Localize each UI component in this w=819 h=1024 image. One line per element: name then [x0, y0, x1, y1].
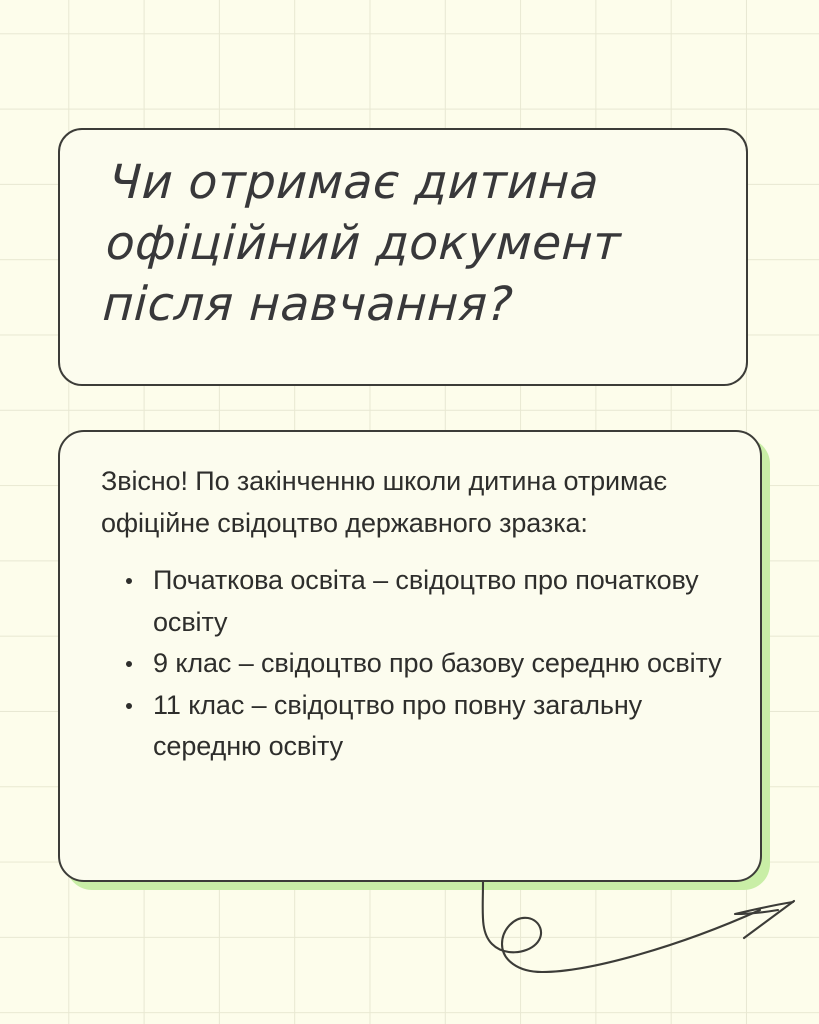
question-title-card: Чи отримає дитина офіційний документ піс…	[58, 128, 748, 386]
content-body: Звісно! По закінченню школи дитина отрим…	[101, 461, 738, 768]
bullet-dot-icon	[126, 703, 132, 709]
answer-content-card: Звісно! По закінченню школи дитина отрим…	[58, 430, 762, 882]
list-item-label: 9 клас – свідоцтво про базову середню ос…	[153, 648, 721, 678]
list-item: Початкова освіта – свідоцтво про початко…	[101, 560, 738, 643]
certificate-list: Початкова освіта – свідоцтво про початко…	[101, 560, 738, 768]
list-item-label: Початкова освіта – свідоцтво про початко…	[153, 565, 699, 637]
bullet-dot-icon	[126, 661, 132, 667]
list-item-label: 11 клас – свідоцтво про повну загальну с…	[153, 690, 642, 762]
bullet-dot-icon	[126, 578, 132, 584]
list-item: 11 клас – свідоцтво про повну загальну с…	[101, 685, 738, 768]
list-item: 9 клас – свідоцтво про базову середню ос…	[101, 643, 738, 685]
intro-paragraph: Звісно! По закінченню школи дитина отрим…	[101, 461, 738, 544]
page-title: Чи отримає дитина офіційний документ піс…	[101, 152, 725, 335]
